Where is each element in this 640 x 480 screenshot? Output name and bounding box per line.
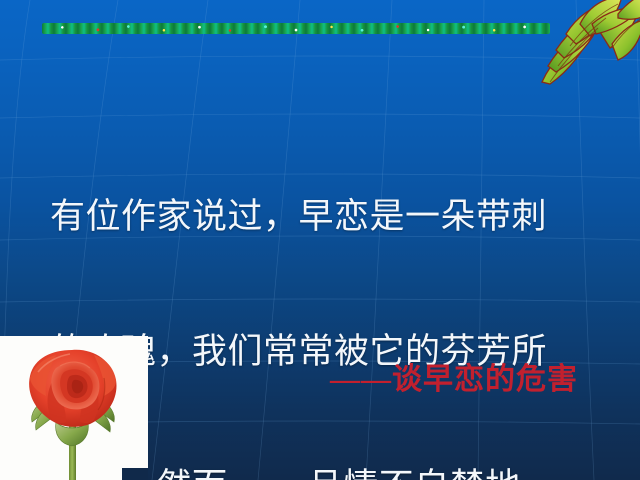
body-line-1: 有位作家说过，早恋是一朵带刺 bbox=[50, 194, 595, 239]
rose-panel-notch bbox=[122, 468, 148, 480]
attribution-text: ——谈早恋的危害 bbox=[330, 354, 578, 398]
confetti-jewel-divider-icon bbox=[42, 23, 550, 34]
red-rose-image bbox=[16, 342, 132, 480]
presentation-slide: 有位作家说过，早恋是一朵带刺 的玫瑰，我们常常被它的芬芳所 吸引，然而， 一旦情… bbox=[0, 0, 640, 480]
rose-image-panel bbox=[0, 336, 148, 480]
leaf-cluster-ornament-icon bbox=[526, 0, 640, 86]
